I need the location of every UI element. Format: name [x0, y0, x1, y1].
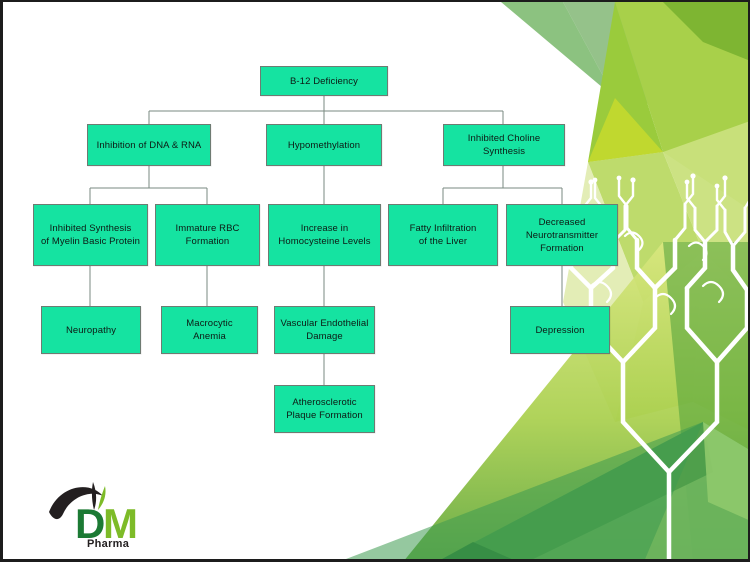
node-label: B-12 Deficiency: [264, 75, 384, 88]
node-immature-rbc-formation[interactable]: Immature RBCFormation: [155, 204, 260, 266]
node-label: Immature RBCFormation: [159, 222, 256, 248]
node-label: DecreasedNeurotransmitterFormation: [510, 216, 614, 255]
node-inhibited-choline-synthesis[interactable]: Inhibited CholineSynthesis: [443, 124, 565, 166]
logo-tagline: Pharma: [87, 538, 129, 550]
node-decreased-neurotransmitter[interactable]: DecreasedNeurotransmitterFormation: [506, 204, 618, 266]
node-label: Inhibition of DNA & RNA: [91, 139, 207, 152]
node-fatty-infiltration-liver[interactable]: Fatty Infiltrationof the Liver: [388, 204, 498, 266]
node-increase-homocysteine[interactable]: Increase inHomocysteine Levels: [268, 204, 381, 266]
node-label: Fatty Infiltrationof the Liver: [392, 222, 494, 248]
node-hypomethylation[interactable]: Hypomethylation: [266, 124, 382, 166]
node-macrocytic-anemia[interactable]: MacrocyticAnemia: [161, 306, 258, 354]
node-depression[interactable]: Depression: [510, 306, 610, 354]
node-vascular-endothelial-damage[interactable]: Vascular EndothelialDamage: [274, 306, 375, 354]
slide-canvas: B-12 Deficiency Inhibition of DNA & RNA …: [0, 0, 750, 562]
node-b12-deficiency[interactable]: B-12 Deficiency: [260, 66, 388, 96]
node-label: Inhibited CholineSynthesis: [447, 132, 561, 158]
node-label: Neuropathy: [45, 324, 137, 337]
node-label: Inhibited Synthesisof Myelin Basic Prote…: [37, 222, 144, 248]
node-label: MacrocyticAnemia: [165, 317, 254, 343]
node-atherosclerotic-plaque-formation[interactable]: AtheroscleroticPlaque Formation: [274, 385, 375, 433]
node-inhibition-dna-rna[interactable]: Inhibition of DNA & RNA: [87, 124, 211, 166]
node-label: AtheroscleroticPlaque Formation: [278, 396, 371, 422]
node-label: Hypomethylation: [270, 139, 378, 152]
node-label: Vascular EndothelialDamage: [278, 317, 371, 343]
node-label: Depression: [514, 324, 606, 337]
node-label: Increase inHomocysteine Levels: [272, 222, 377, 248]
node-neuropathy[interactable]: Neuropathy: [41, 306, 141, 354]
node-inhibited-synthesis-myelin[interactable]: Inhibited Synthesisof Myelin Basic Prote…: [33, 204, 148, 266]
